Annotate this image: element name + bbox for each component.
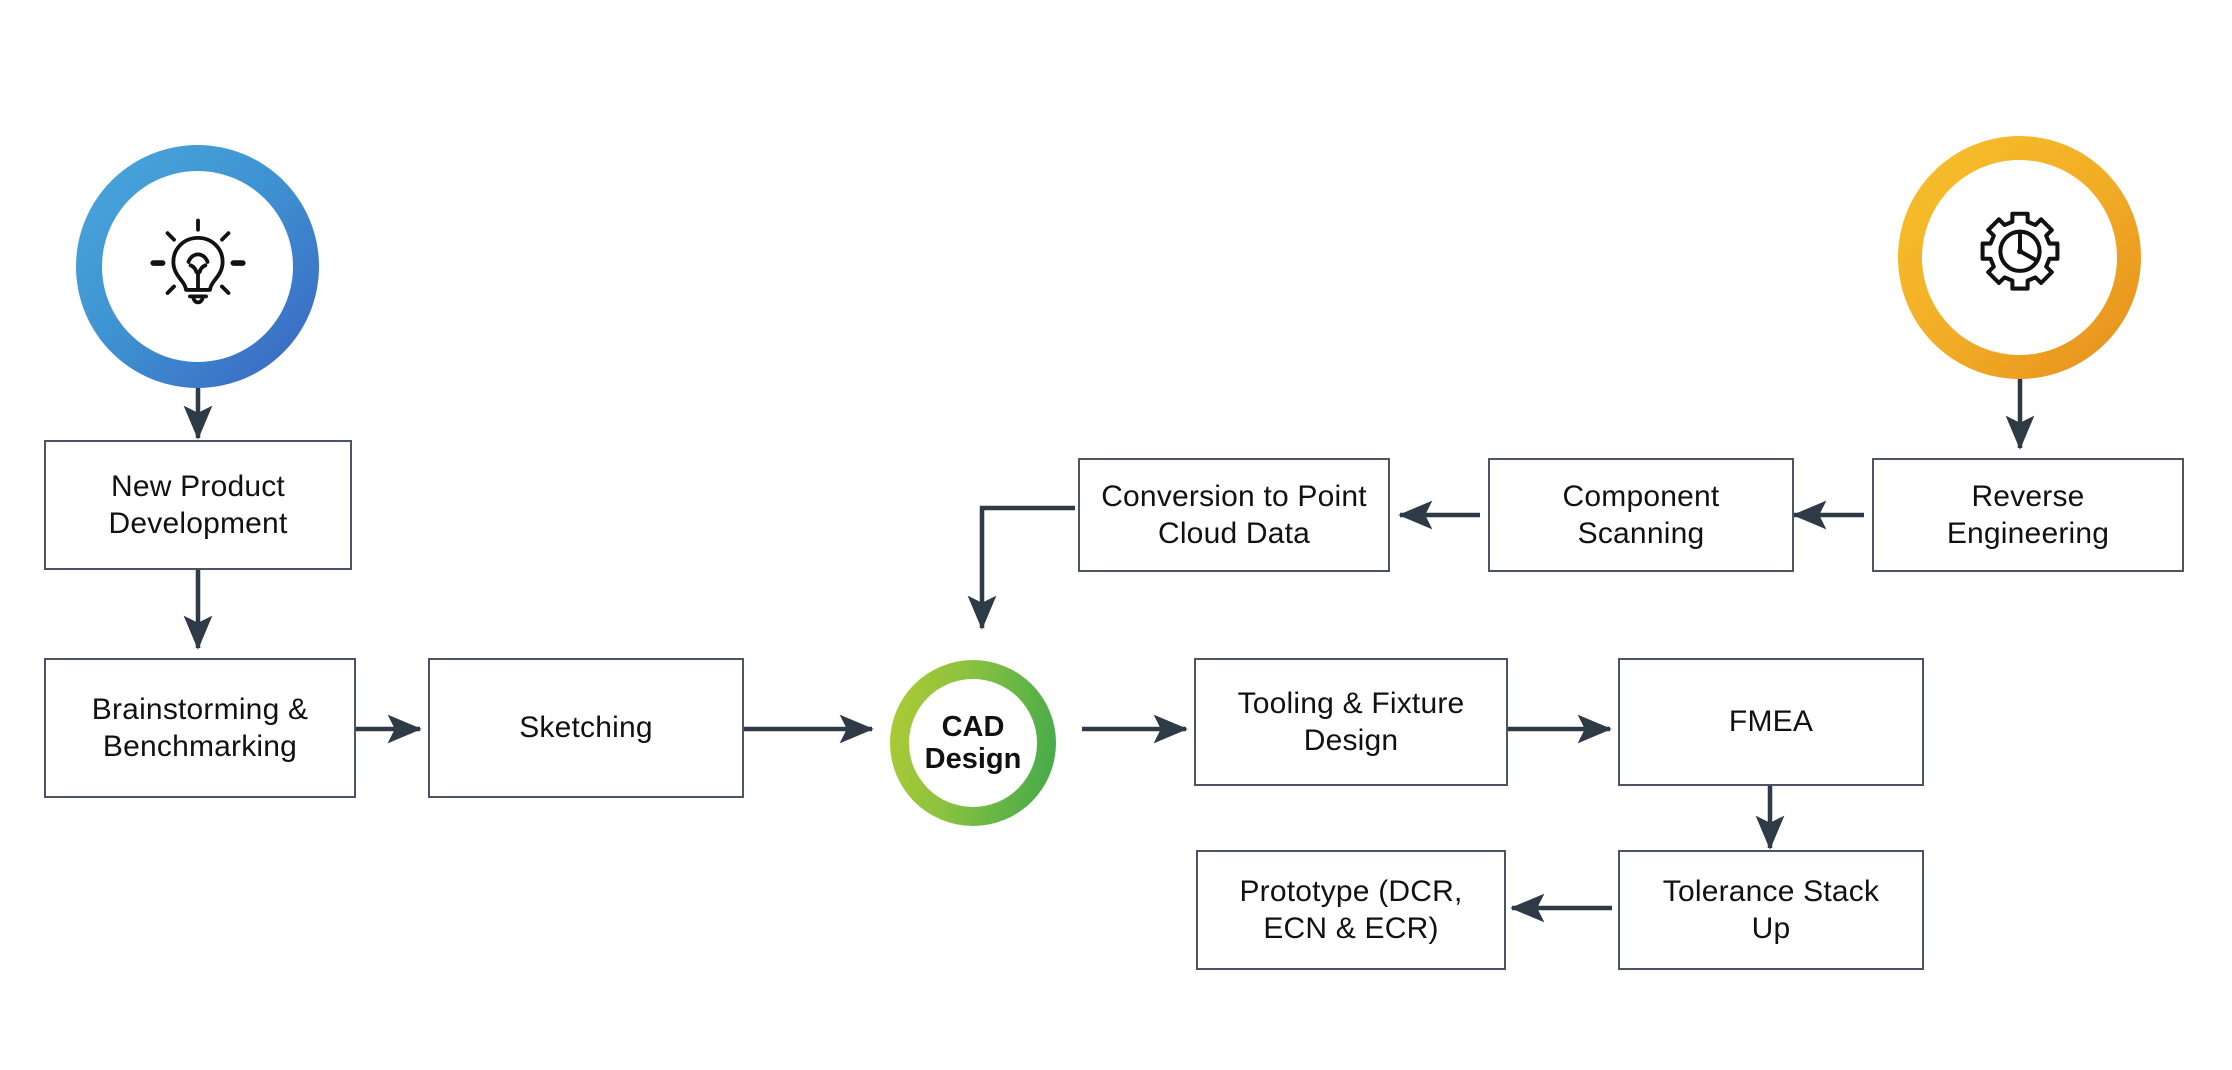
box-reverse-engineering[interactable]: Reverse Engineering	[1872, 458, 2184, 572]
lightbulb-icon	[142, 211, 254, 323]
flowchart-canvas: CAD Design New Product Development Brain…	[0, 0, 2232, 1070]
box-new-product-development[interactable]: New Product Development	[44, 440, 352, 570]
box-brainstorming-benchmarking[interactable]: Brainstorming & Benchmarking	[44, 658, 356, 798]
cad-design-ring[interactable]: CAD Design	[890, 660, 1056, 826]
box-tolerance-stack-up[interactable]: Tolerance Stack Up	[1618, 850, 1924, 970]
arrow-conversion-to-cad	[982, 508, 1075, 628]
box-fmea[interactable]: FMEA	[1618, 658, 1924, 786]
idea-ring[interactable]	[76, 145, 319, 388]
reverse-engineering-ring[interactable]	[1898, 136, 2141, 379]
reverse-engineering-ring-inner	[1922, 160, 2117, 355]
idea-ring-inner	[102, 171, 293, 362]
cad-design-label: CAD Design	[925, 711, 1022, 776]
box-component-scanning[interactable]: Component Scanning	[1488, 458, 1794, 572]
box-tooling-fixture-design[interactable]: Tooling & Fixture Design	[1194, 658, 1508, 786]
box-conversion-to-point-cloud-data[interactable]: Conversion to Point Cloud Data	[1078, 458, 1390, 572]
box-sketching[interactable]: Sketching	[428, 658, 744, 798]
box-prototype-dcr-ecn-ecr[interactable]: Prototype (DCR, ECN & ECR)	[1196, 850, 1506, 970]
gear-gauge-icon	[1964, 202, 2076, 314]
cad-design-ring-inner: CAD Design	[909, 679, 1037, 807]
